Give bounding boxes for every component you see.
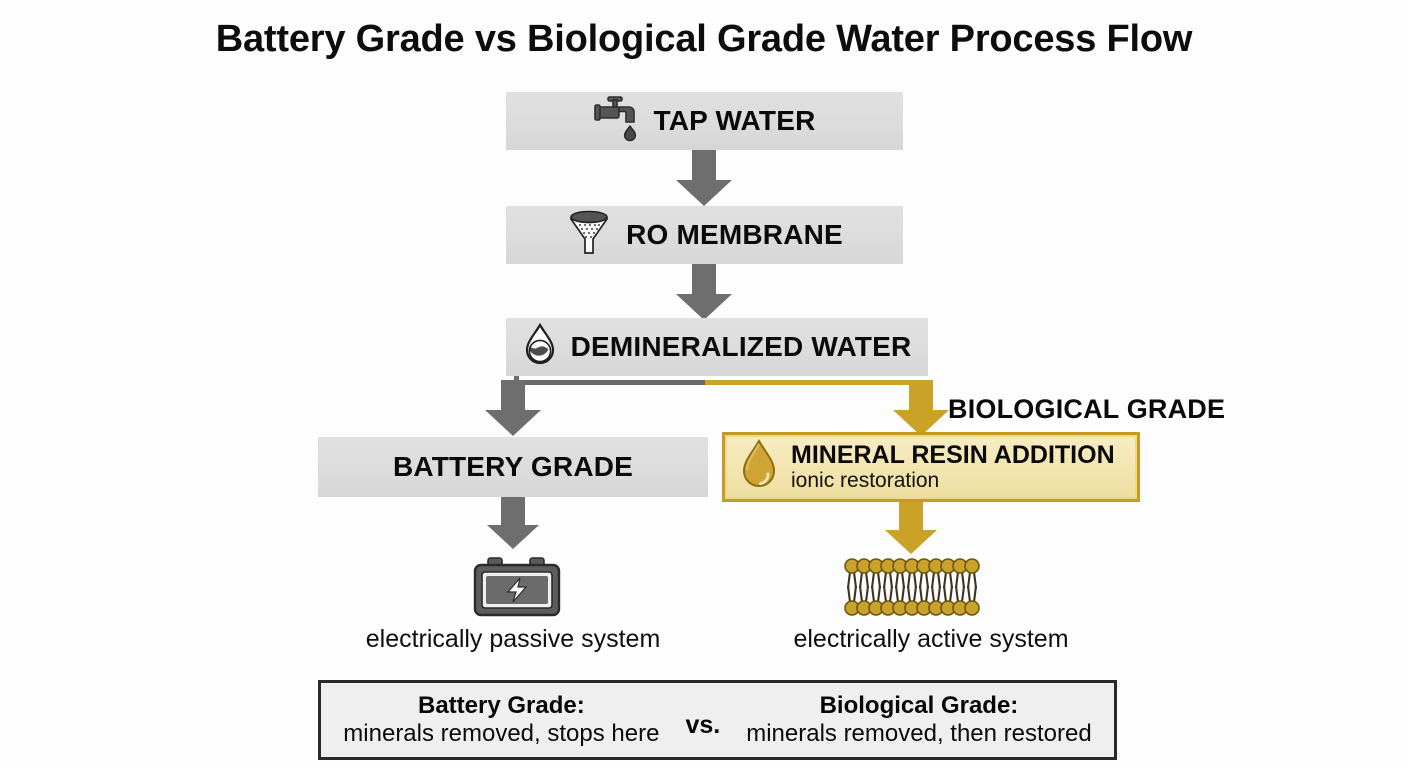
arrow-to-biological-grade (893, 380, 949, 438)
mineral-resin-subtitle: ionic restoration (791, 470, 1115, 492)
connector-horizontal-gray (512, 380, 707, 385)
arrow-ro-to-demin (676, 264, 732, 320)
summary-battery-grade: Battery Grade: minerals removed, stops h… (343, 692, 659, 749)
node-demineralized-water[interactable]: DEMINERALIZED WATER (506, 318, 928, 376)
arrow-battery-to-outcome (485, 497, 541, 551)
caption-biological-outcome: electrically active system (722, 625, 1140, 654)
node-tap-water[interactable]: TAP WATER (506, 92, 903, 150)
arrow-mineral-to-outcome (883, 502, 939, 556)
summary-biological-heading: Biological Grade: (746, 692, 1092, 720)
arrow-tap-to-ro (676, 150, 732, 206)
summary-vs-label: vs. (685, 701, 720, 740)
node-mineral-resin-addition[interactable]: MINERAL RESIN ADDITION ionic restoration (722, 432, 1140, 502)
node-ro-membrane[interactable]: RO MEMBRANE (506, 206, 903, 264)
battery-icon (472, 556, 562, 623)
faucet-icon (593, 94, 639, 149)
connector-horizontal-gold (705, 380, 921, 385)
summary-battery-heading: Battery Grade: (343, 692, 659, 720)
comparison-summary-box: Battery Grade: minerals removed, stops h… (318, 680, 1117, 760)
lipid-bilayer-icon (841, 556, 985, 623)
summary-battery-body: minerals removed, stops here (343, 720, 659, 748)
node-ro-membrane-label: RO MEMBRANE (626, 219, 843, 251)
summary-biological-body: minerals removed, then restored (746, 720, 1092, 748)
summary-biological-grade: Biological Grade: minerals removed, then… (746, 692, 1092, 749)
water-drop-icon (523, 323, 557, 372)
caption-battery-outcome: electrically passive system (318, 625, 708, 654)
node-tap-water-label: TAP WATER (653, 105, 815, 137)
funnel-icon (566, 209, 612, 262)
gold-drop-icon (739, 438, 779, 497)
node-battery-grade[interactable]: BATTERY GRADE (318, 437, 708, 497)
node-demineralized-water-label: DEMINERALIZED WATER (571, 331, 912, 363)
node-battery-grade-label: BATTERY GRADE (393, 451, 633, 483)
page-title: Battery Grade vs Biological Grade Water … (0, 18, 1408, 61)
mineral-resin-title: MINERAL RESIN ADDITION (791, 442, 1115, 468)
arrow-to-battery-grade (485, 380, 541, 438)
biological-grade-side-label: BIOLOGICAL GRADE (948, 394, 1225, 425)
diagram-canvas: Battery Grade vs Biological Grade Water … (0, 0, 1408, 768)
